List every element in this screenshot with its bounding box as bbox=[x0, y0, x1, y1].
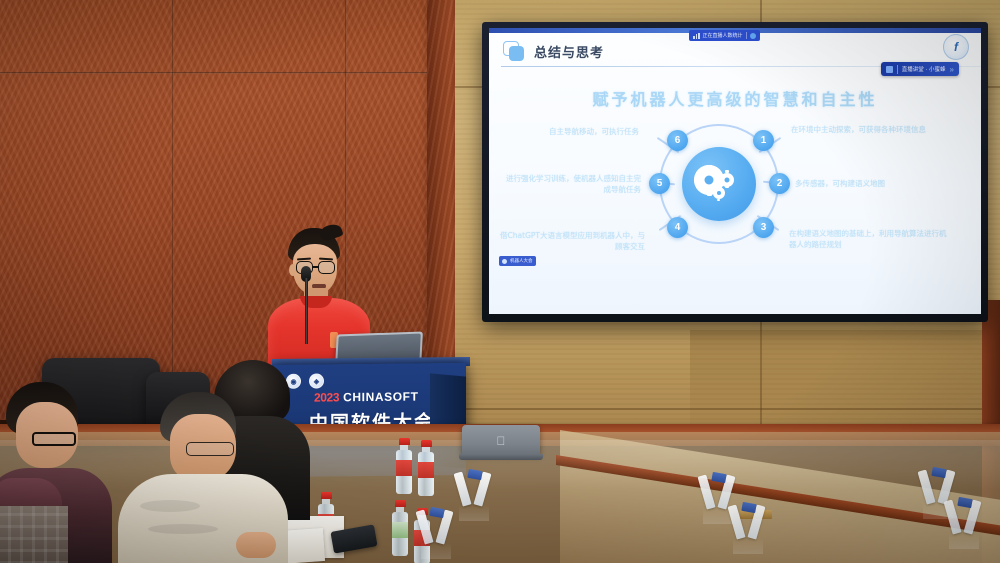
blurb-left-mid: 进行强化学习训练，使机器人感知自主完成导航任务 bbox=[503, 173, 641, 196]
divider bbox=[897, 65, 898, 74]
diagram-hub bbox=[682, 147, 756, 221]
presentation-screen: 正在直播人数统计 总结与思考 f 直播讲堂 · 小蜜蜂 » bbox=[482, 22, 988, 322]
blurb-right-mid: 多传感器，可构建语义地图 bbox=[795, 178, 945, 189]
flame-icon bbox=[750, 33, 756, 39]
laptop-base bbox=[459, 454, 543, 460]
diagram-node-6: 6 bbox=[667, 130, 688, 151]
name-card-holder bbox=[456, 472, 492, 506]
blurb-left-bottom: 借ChatGPT大语言模型应用到机器人中，与顾客交互 bbox=[497, 230, 645, 253]
circular-process-diagram: 1 2 3 4 5 6 bbox=[653, 118, 785, 250]
water-bottle bbox=[396, 438, 412, 494]
audience-person-left bbox=[0, 382, 112, 563]
download-icon bbox=[886, 66, 893, 73]
wall-seam bbox=[172, 0, 174, 420]
watermark-top-label: 正在直播人数统计 bbox=[703, 32, 743, 39]
person-plaid-jacket bbox=[0, 506, 68, 563]
slide-canvas: 正在直播人数统计 总结与思考 f 直播讲堂 · 小蜜蜂 » bbox=[489, 28, 981, 314]
macbook-laptop:  bbox=[462, 425, 540, 459]
organization-logo: f bbox=[943, 34, 969, 60]
slide-main-title: 赋予机器人更高级的智慧和自主性 bbox=[489, 86, 981, 110]
blurb-right-top: 在环境中主动探索，可获得各种环境信息 bbox=[791, 124, 941, 135]
live-viewer-watermark: 正在直播人数统计 bbox=[689, 30, 760, 41]
diagram-node-4: 4 bbox=[667, 217, 688, 238]
person-glasses bbox=[32, 432, 76, 446]
diagram-node-3: 3 bbox=[753, 217, 774, 238]
water-bottle bbox=[392, 500, 408, 556]
apple-logo-icon:  bbox=[495, 435, 507, 448]
name-card-holder bbox=[700, 475, 736, 509]
person-glasses bbox=[186, 442, 234, 456]
logo-mark: f bbox=[954, 40, 958, 54]
name-card-holder bbox=[418, 510, 454, 544]
divider bbox=[746, 32, 747, 39]
slide-header-title: 总结与思考 bbox=[534, 42, 604, 61]
rounded-square-icon bbox=[503, 41, 525, 62]
person-hand bbox=[236, 532, 276, 558]
chevron-right-icon: » bbox=[950, 65, 954, 74]
diagram-node-5: 5 bbox=[649, 173, 670, 194]
wall-seam bbox=[0, 72, 455, 74]
conference-room-scene: 正在直播人数统计 总结与思考 f 直播讲堂 · 小蜜蜂 » bbox=[0, 0, 1000, 563]
microphone-stand bbox=[305, 278, 308, 344]
podium-title-en: 2023 CHINASOFT bbox=[314, 389, 419, 404]
blurb-left-top: 自主导航移动，可执行任务 bbox=[509, 126, 639, 137]
blurb-right-bottom: 在构建语义地图的基础上，利用导航算法进行机器人的路径规划 bbox=[789, 228, 949, 251]
audience-person-center bbox=[118, 392, 278, 563]
laptop-lid:  bbox=[462, 425, 540, 455]
gears-icon bbox=[695, 163, 743, 205]
diagram-node-1: 1 bbox=[753, 130, 774, 151]
name-card-holder bbox=[946, 500, 982, 534]
watermark-right-label: 直播讲堂 · 小蜜蜂 bbox=[902, 65, 946, 73]
podium-brand-en: CHINASOFT bbox=[343, 389, 418, 404]
name-card-holder bbox=[730, 505, 766, 539]
podium-year: 2023 bbox=[314, 390, 339, 404]
livestream-watermark: 直播讲堂 · 小蜜蜂 » bbox=[881, 62, 959, 76]
slide-header: 总结与思考 bbox=[503, 41, 604, 62]
diagram-node-2: 2 bbox=[769, 173, 790, 194]
corner-watermark: 机器人大会 bbox=[499, 256, 536, 266]
dot-icon bbox=[502, 259, 507, 264]
signal-bars-icon bbox=[693, 33, 700, 39]
water-bottle bbox=[418, 440, 434, 496]
watermark-left-label: 机器人大会 bbox=[510, 258, 533, 264]
